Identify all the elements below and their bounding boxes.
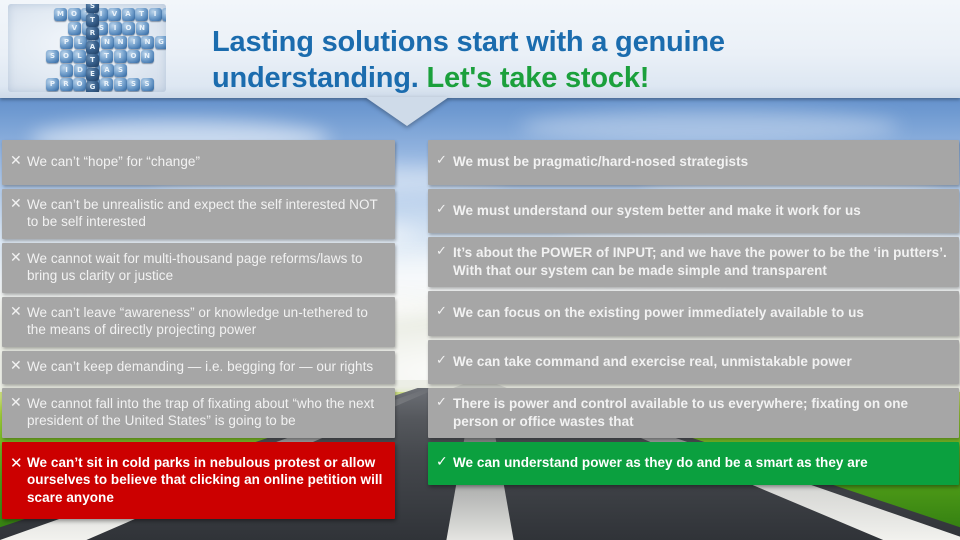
logo-bead: R — [60, 78, 73, 91]
logo-bead: N — [141, 36, 154, 49]
list-item: ✕We can’t sit in cold parks in nebulous … — [2, 442, 395, 520]
logo-bead: G — [155, 36, 167, 49]
strategy-crossword-logo: MOTIVATIONVISIONPLANNINGSOLUTIONIDEASPRO… — [8, 4, 166, 92]
logo-bead: S — [127, 78, 140, 91]
list-item-label: We must be pragmatic/hard-nosed strategi… — [453, 153, 949, 171]
logo-bead: S — [46, 50, 59, 63]
check-icon: ✓ — [436, 202, 453, 218]
logo-bead: V — [68, 22, 81, 35]
cross-icon: ✕ — [10, 304, 27, 322]
logo-bead: M — [54, 8, 67, 21]
cross-icon: ✕ — [10, 395, 27, 413]
logo-bead: O — [127, 50, 140, 63]
cross-icon: ✕ — [10, 454, 27, 473]
list-item-label: We can understand power as they do and b… — [453, 454, 949, 472]
logo-bead: D — [74, 64, 87, 77]
list-item: ✓We can take command and exercise real, … — [428, 340, 959, 385]
logo-bead: S — [114, 64, 127, 77]
logo-bead: I — [60, 64, 73, 77]
logo-bead: O — [122, 22, 135, 35]
logo-bead: O — [60, 50, 73, 63]
logo-bead: T — [135, 8, 148, 21]
logo-bead: N — [136, 22, 149, 35]
logo-bead: I — [109, 22, 122, 35]
logo-bead: I — [128, 36, 141, 49]
check-icon: ✓ — [436, 304, 453, 320]
list-item-label: We can’t keep demanding — i.e. begging f… — [27, 358, 385, 376]
list-item: ✕We can’t be unrealistic and expect the … — [2, 189, 395, 239]
list-item-label: We can focus on the existing power immed… — [453, 304, 949, 322]
list-item: ✓We must understand our system better an… — [428, 189, 959, 234]
logo-bead-vertical: A — [86, 41, 99, 54]
logo-bead: V — [108, 8, 121, 21]
list-item: ✓We can understand power as they do and … — [428, 442, 959, 485]
logo-bead-vertical: R — [86, 27, 99, 40]
logo-bead: N — [141, 50, 154, 63]
list-item: ✓We must be pragmatic/hard-nosed strateg… — [428, 140, 959, 185]
logo-bead: R — [100, 78, 113, 91]
logo-bead: O — [68, 8, 81, 21]
logo-bead: E — [114, 78, 127, 91]
logo-bead: O — [73, 78, 86, 91]
list-item: ✕We can’t leave “awareness” or knowledge… — [2, 297, 395, 347]
list-item: ✕We can’t keep demanding — i.e. begging … — [2, 351, 395, 384]
logo-bead: P — [46, 78, 59, 91]
logo-bead-vertical: E — [86, 68, 99, 81]
list-item-label: It’s about the POWER of INPUT; and we ha… — [453, 244, 949, 279]
logo-bead-vertical: T — [86, 14, 99, 27]
list-item-label: There is power and control available to … — [453, 395, 949, 430]
can-do-column: ✓We must be pragmatic/hard-nosed strateg… — [428, 140, 959, 489]
check-icon: ✓ — [436, 353, 453, 369]
logo-bead: O — [162, 8, 166, 21]
logo-bead: A — [101, 64, 114, 77]
list-item-label: We can’t “hope” for “change” — [27, 153, 385, 171]
logo-bead: N — [114, 36, 127, 49]
check-icon: ✓ — [436, 153, 453, 169]
list-item-label: We can’t sit in cold parks in nebulous p… — [27, 454, 385, 507]
cross-icon: ✕ — [10, 358, 27, 376]
logo-bead-vertical: T — [86, 54, 99, 67]
list-item: ✓It’s about the POWER of INPUT; and we h… — [428, 237, 959, 287]
list-item: ✕We cannot fall into the trap of fixatin… — [2, 388, 395, 438]
cross-icon: ✕ — [10, 153, 27, 171]
list-item-label: We can take command and exercise real, u… — [453, 353, 949, 371]
cloud — [520, 110, 900, 144]
list-item-label: We must understand our system better and… — [453, 202, 949, 220]
list-item-label: We cannot wait for multi-thousand page r… — [27, 250, 385, 285]
slide: Lasting solutions start with a genuine u… — [0, 0, 960, 540]
list-item: ✓We can focus on the existing power imme… — [428, 291, 959, 336]
cannot-do-column: ✕We can’t “hope” for “change”✕We can’t b… — [2, 140, 395, 523]
cross-icon: ✕ — [10, 196, 27, 214]
logo-bead: L — [73, 50, 86, 63]
check-icon: ✓ — [436, 395, 453, 411]
list-item-label: We can’t leave “awareness” or knowledge … — [27, 304, 385, 339]
list-item: ✓There is power and control available to… — [428, 388, 959, 438]
logo-bead: P — [60, 36, 73, 49]
page-title: Lasting solutions start with a genuine u… — [212, 25, 932, 97]
logo-bead: T — [100, 50, 113, 63]
cross-icon: ✕ — [10, 250, 27, 268]
logo-bead-vertical: S — [86, 4, 99, 13]
logo-bead-vertical: G — [86, 81, 99, 92]
check-icon: ✓ — [436, 244, 453, 260]
list-item: ✕We cannot wait for multi-thousand page … — [2, 243, 395, 293]
page-title-highlight: Let's take stock! — [427, 62, 650, 94]
header-banner: Lasting solutions start with a genuine u… — [0, 0, 960, 98]
logo-bead: L — [74, 36, 87, 49]
logo-bead: N — [101, 36, 114, 49]
check-icon: ✓ — [436, 454, 453, 472]
logo-bead: I — [149, 8, 162, 21]
logo-bead: I — [114, 50, 127, 63]
logo-bead: A — [122, 8, 135, 21]
list-item-label: We cannot fall into the trap of fixating… — [27, 395, 385, 430]
list-item: ✕We can’t “hope” for “change” — [2, 140, 395, 185]
callout-tail — [365, 97, 449, 126]
logo-bead: S — [141, 78, 154, 91]
list-item-label: We can’t be unrealistic and expect the s… — [27, 196, 385, 231]
